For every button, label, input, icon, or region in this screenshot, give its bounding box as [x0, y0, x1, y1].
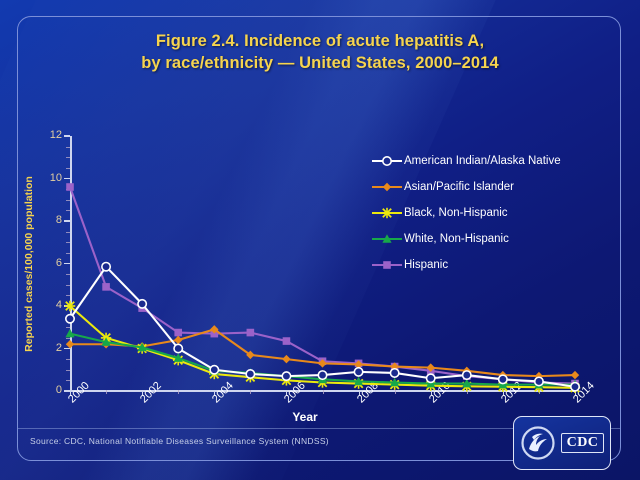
legend-label: American Indian/Alaska Native: [402, 155, 561, 167]
y-tick-label: 8: [22, 214, 62, 226]
hhs-seal-icon: [520, 425, 556, 461]
legend-item-0[interactable]: American Indian/Alaska Native: [372, 148, 592, 174]
legend-marker-icon: [372, 154, 402, 168]
cdc-wordmark: CDC: [561, 433, 605, 453]
y-tick-label: 6: [22, 257, 62, 269]
legend-item-4[interactable]: Hispanic: [372, 252, 592, 278]
y-tick-label: 2: [22, 342, 62, 354]
legend-label: Black, Non-Hispanic: [402, 207, 508, 219]
y-tick-label: 0: [22, 384, 62, 396]
y-tick-label: 10: [22, 172, 62, 184]
chart-legend: American Indian/Alaska NativeAsian/Pacif…: [372, 148, 592, 278]
legend-label: Asian/Pacific Islander: [402, 181, 514, 193]
legend-item-2[interactable]: Black, Non-Hispanic: [372, 200, 592, 226]
x-axis-title: Year: [245, 410, 365, 424]
y-tick-label: 12: [22, 129, 62, 141]
source-note: Source: CDC, National Notifiable Disease…: [30, 436, 329, 446]
legend-marker-icon: [372, 206, 402, 220]
cdc-logo: CDC: [513, 416, 611, 470]
y-tick-label: 4: [22, 299, 62, 311]
legend-label: Hispanic: [402, 259, 448, 271]
legend-marker-icon: [372, 232, 402, 246]
legend-item-3[interactable]: White, Non-Hispanic: [372, 226, 592, 252]
page-title: Figure 2.4. Incidence of acute hepatitis…: [0, 30, 640, 74]
legend-label: White, Non-Hispanic: [402, 233, 509, 245]
legend-item-1[interactable]: Asian/Pacific Islander: [372, 174, 592, 200]
legend-marker-icon: [372, 180, 402, 194]
title-line-1: Figure 2.4. Incidence of acute hepatitis…: [0, 30, 640, 52]
slide-canvas: Figure 2.4. Incidence of acute hepatitis…: [0, 0, 640, 480]
title-line-2: by race/ethnicity — United States, 2000–…: [0, 52, 640, 74]
legend-marker-icon: [372, 258, 402, 272]
